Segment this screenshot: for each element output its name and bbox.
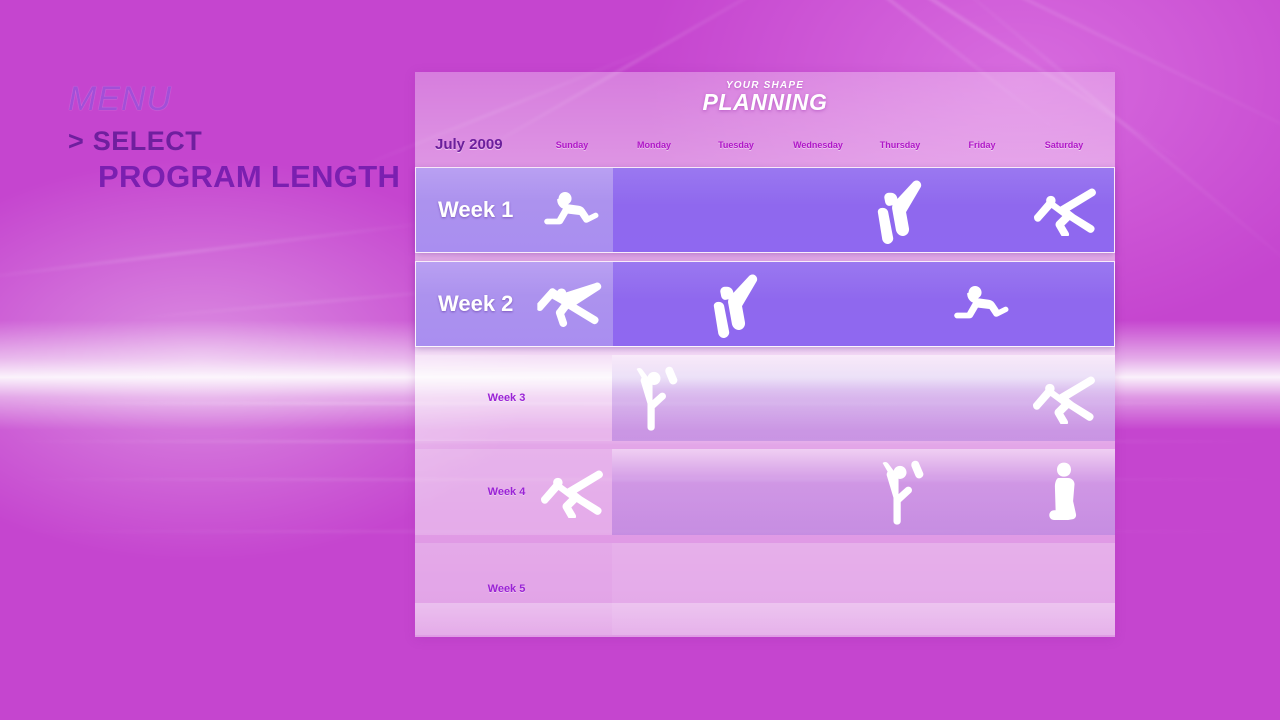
legs-up-pose-icon[interactable] — [700, 272, 774, 336]
day-header-monday: Monday — [613, 140, 695, 150]
triangle-pose-icon[interactable] — [1027, 366, 1101, 430]
kneeling-pose-icon[interactable] — [1027, 460, 1101, 524]
menu-program-length-label: PROGRAM LENGTH — [98, 161, 408, 194]
week-list: Week 1Week 2Week 3Week 4Week 5 — [415, 167, 1115, 643]
triangle-pose-icon[interactable] — [535, 460, 609, 524]
legs-up-pose-icon[interactable] — [864, 178, 938, 242]
standing-balance-pose-icon[interactable] — [617, 366, 691, 430]
calendar-header: July 2009 SundayMondayTuesdayWednesdayTh… — [415, 132, 1115, 162]
menu-select-label: SELECT — [93, 128, 203, 155]
triangle-pose-icon[interactable] — [1028, 178, 1102, 242]
day-header-wednesday: Wednesday — [777, 140, 859, 150]
caret-right-icon: > — [68, 128, 84, 155]
seated-twist-pose-icon[interactable] — [946, 272, 1020, 336]
menu-select-row[interactable]: > SELECT — [68, 128, 408, 155]
week-label-text: Week 2 — [438, 291, 513, 317]
week-row-3[interactable]: Week 3 — [415, 355, 1115, 441]
day-header-friday: Friday — [941, 140, 1023, 150]
app-screen: MENU > SELECT PROGRAM LENGTH YOUR SHAPE … — [0, 0, 1280, 720]
panel-footer-strip — [415, 603, 1115, 637]
day-header-saturday: Saturday — [1023, 140, 1105, 150]
week-grid-1 — [613, 168, 1114, 252]
week-label-text: Week 1 — [438, 197, 513, 223]
week-grid-3 — [612, 355, 1115, 441]
warrior-reach-pose-icon[interactable] — [536, 272, 610, 336]
week-row-2[interactable]: Week 2 — [415, 261, 1115, 347]
week-grid-4 — [612, 449, 1115, 535]
panel-title-big: PLANNING — [415, 89, 1115, 116]
week-row-1[interactable]: Week 1 — [415, 167, 1115, 253]
planning-panel: YOUR SHAPE PLANNING July 2009 SundayMond… — [415, 72, 1115, 637]
menu-heading: MENU — [68, 82, 408, 116]
seated-twist-pose-icon[interactable] — [536, 178, 610, 242]
week-label-text: Week 3 — [415, 392, 612, 404]
menu-block: MENU > SELECT PROGRAM LENGTH — [68, 82, 408, 194]
week-grid-2 — [613, 262, 1114, 346]
week-label-text: Week 5 — [415, 583, 612, 595]
week-row-4[interactable]: Week 4 — [415, 449, 1115, 535]
week-label-cell-3: Week 3 — [415, 355, 612, 441]
day-header-tuesday: Tuesday — [695, 140, 777, 150]
month-label: July 2009 — [435, 136, 503, 153]
day-header-thursday: Thursday — [859, 140, 941, 150]
panel-title: YOUR SHAPE PLANNING — [415, 80, 1115, 116]
day-header-sunday: Sunday — [531, 140, 613, 150]
standing-balance-pose-icon[interactable] — [863, 460, 937, 524]
